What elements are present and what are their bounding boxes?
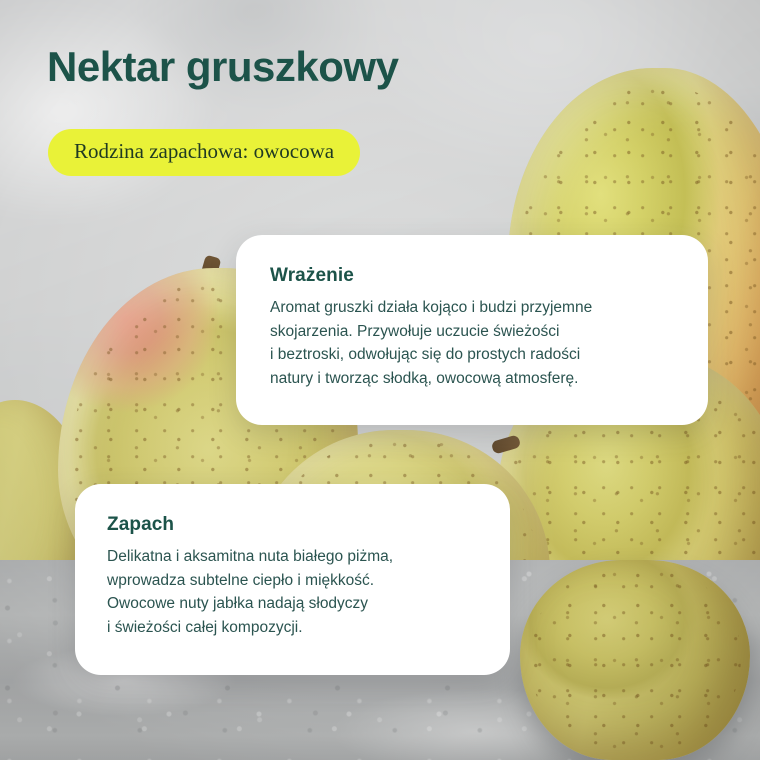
scent-card-body: Delikatna i aksamitna nuta białego piżma… [107, 545, 478, 639]
scent-card-heading: Zapach [107, 514, 478, 536]
impression-card: Wrażenie Aromat gruszki działa kojąco i … [236, 235, 708, 425]
pear-bottom-right [520, 560, 750, 760]
fragrance-family-badge: Rodzina zapachowa: owocowa [48, 129, 360, 176]
scent-card: Zapach Delikatna i aksamitna nuta białeg… [75, 484, 510, 675]
page-title: Nektar gruszkowy [47, 44, 398, 90]
impression-card-body: Aromat gruszki działa kojąco i budzi prz… [270, 296, 674, 390]
impression-card-heading: Wrażenie [270, 265, 674, 287]
infographic-canvas: Nektar gruszkowy Rodzina zapachowa: owoc… [0, 0, 760, 760]
